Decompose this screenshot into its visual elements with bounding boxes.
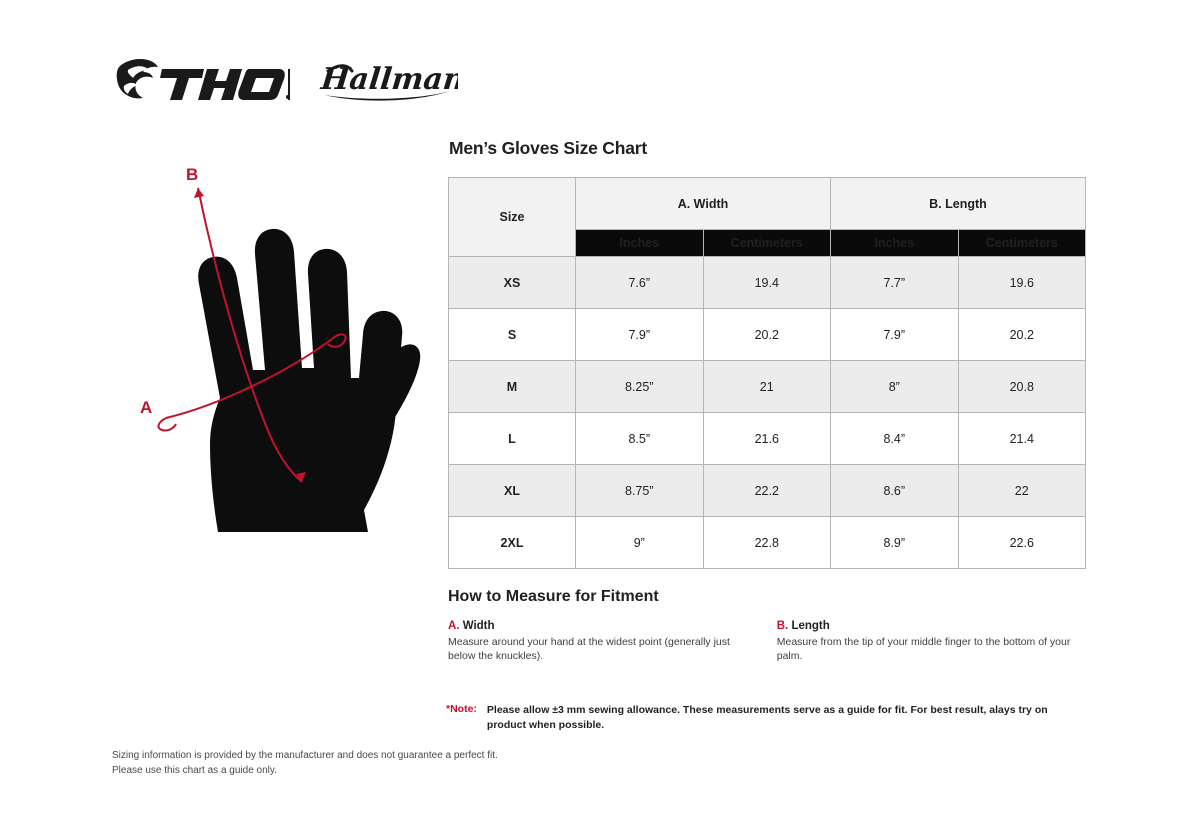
cell-length-cm: 21.4 [958, 413, 1086, 465]
table-row: S 7.9” 20.2 7.9” 20.2 [449, 309, 1086, 361]
width-label-a: A [140, 398, 152, 417]
cell-length-inches: 8.6” [831, 465, 959, 517]
cell-length-cm: 19.6 [958, 257, 1086, 309]
cell-width-cm: 22.2 [703, 465, 831, 517]
cell-size: XS [449, 257, 576, 309]
how-to-measure-title: How to Measure for Fitment [448, 588, 1088, 606]
cell-width-inches: 8.25” [576, 361, 704, 413]
col-header-group-length: B. Length [831, 178, 1086, 230]
page-title: Men’s Gloves Size Chart [449, 138, 1088, 159]
cell-size: M [449, 361, 576, 413]
col-header-width-centimeters: Centimeters [703, 230, 831, 257]
cell-width-inches: 9” [576, 517, 704, 569]
cell-width-cm: 22.8 [703, 517, 831, 569]
note-text: Please allow ±3 mm sewing allowance. The… [487, 703, 1077, 733]
cell-width-cm: 20.2 [703, 309, 831, 361]
cell-width-cm: 21 [703, 361, 831, 413]
measure-width-column: A. Width Measure around your hand at the… [448, 620, 777, 664]
table-head-row-groups: Size A. Width B. Length [449, 178, 1086, 230]
cell-length-inches: 8” [831, 361, 959, 413]
size-chart-table: Size A. Width B. Length Inches Centimete… [448, 177, 1086, 569]
measure-length-letter: B. [777, 620, 789, 632]
table-row: M 8.25” 21 8” 20.8 [449, 361, 1086, 413]
thor-logo: THOR [112, 52, 292, 108]
table-row: 2XL 9” 22.8 8.9” 22.6 [449, 517, 1086, 569]
footer-line-2: Please use this chart as a guide only. [112, 763, 632, 778]
hallman-logo: Hallman Hallman [318, 52, 458, 108]
table-head: Size A. Width B. Length Inches Centimete… [449, 178, 1086, 257]
length-arrow-head-top [194, 188, 204, 198]
cell-length-inches: 8.4” [831, 413, 959, 465]
size-chart-panel: Men’s Gloves Size Chart Size A. Width B.… [448, 138, 1088, 569]
col-header-size: Size [449, 178, 576, 257]
length-label-b: B [186, 165, 198, 184]
note-label: *Note: [446, 703, 477, 733]
how-to-measure-columns: A. Width Measure around your hand at the… [448, 620, 1088, 664]
cell-size: XL [449, 465, 576, 517]
hand-diagram-graphic: A B [126, 160, 436, 550]
measure-length-heading: B. Length [777, 620, 1088, 632]
cell-size: S [449, 309, 576, 361]
hand-measurement-diagram: A B [126, 160, 436, 550]
footer-line-1: Sizing information is provided by the ma… [112, 748, 632, 763]
cell-length-cm: 22 [958, 465, 1086, 517]
table-body: XS 7.6” 19.4 7.7” 19.6 S 7.9” 20.2 7.9” … [449, 257, 1086, 569]
cell-width-inches: 8.75” [576, 465, 704, 517]
how-to-measure-section: How to Measure for Fitment A. Width Meas… [448, 588, 1088, 664]
table-row: L 8.5” 21.6 8.4” 21.4 [449, 413, 1086, 465]
col-header-length-centimeters: Centimeters [958, 230, 1086, 257]
cell-length-inches: 7.7” [831, 257, 959, 309]
measure-length-name: Length [788, 620, 830, 632]
col-header-group-width: A. Width [576, 178, 831, 230]
brand-logo-bar: THOR Hallman Hallman [112, 48, 472, 112]
cell-length-inches: 8.9” [831, 517, 959, 569]
cell-length-cm: 20.2 [958, 309, 1086, 361]
cell-size: L [449, 413, 576, 465]
hand-silhouette [198, 229, 402, 532]
measure-length-text: Measure from the tip of your middle fing… [777, 635, 1083, 664]
cell-width-cm: 21.6 [703, 413, 831, 465]
measure-width-text: Measure around your hand at the widest p… [448, 635, 754, 664]
cell-length-inches: 7.9” [831, 309, 959, 361]
col-header-width-inches: Inches [576, 230, 704, 257]
measure-width-name: Width [460, 620, 495, 632]
measure-width-heading: A. Width [448, 620, 777, 632]
footer-disclaimer: Sizing information is provided by the ma… [112, 748, 632, 778]
cell-length-cm: 22.6 [958, 517, 1086, 569]
measure-length-column: B. Length Measure from the tip of your m… [777, 620, 1088, 664]
cell-width-inches: 7.9” [576, 309, 704, 361]
table-row: XS 7.6” 19.4 7.7” 19.6 [449, 257, 1086, 309]
cell-size: 2XL [449, 517, 576, 569]
col-header-length-inches: Inches [831, 230, 959, 257]
cell-width-cm: 19.4 [703, 257, 831, 309]
note-section: *Note: Please allow ±3 mm sewing allowan… [446, 703, 1088, 733]
cell-width-inches: 7.6” [576, 257, 704, 309]
hallman-logo-graphic: Hallman [318, 53, 458, 107]
cell-length-cm: 20.8 [958, 361, 1086, 413]
thor-logo-graphic [112, 52, 292, 108]
table-row: XL 8.75” 22.2 8.6” 22 [449, 465, 1086, 517]
measure-width-letter: A. [448, 620, 460, 632]
cell-width-inches: 8.5” [576, 413, 704, 465]
width-arrow-head-left [159, 418, 176, 431]
